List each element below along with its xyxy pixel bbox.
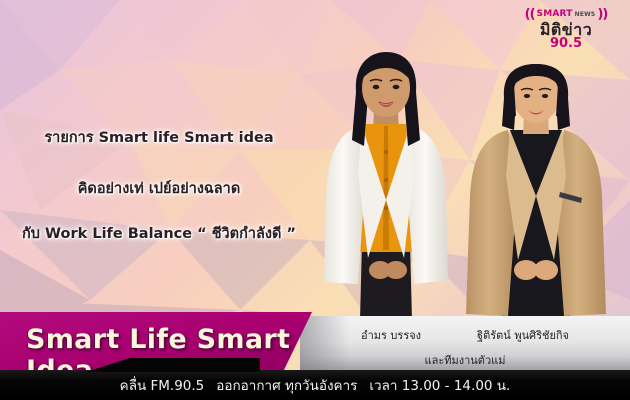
wave-left-icon: (( [525,8,535,21]
schedule-time: เวลา 13.00 - 14.00 น. [369,374,510,396]
schedule-broadcast: ออกอากาศ ทุกวันอังคาร [216,374,357,396]
schedule-text: คลื่น FM.90.5 ออกอากาศ ทุกวันอังคาร เวลา… [0,370,630,400]
promo-line-2: คิดอย่างเท่ เปย์อย่างฉลาด [0,177,318,200]
bottom-bar: Smart Life Smart Idea อำมร บรรจง ฐิติรัต… [0,302,630,400]
wave-right-icon: )) [597,8,607,21]
host-name-2: ฐิติรัตน์ พูนศิริชัยกิจ [477,326,569,344]
logo-frequency: 90.5 [514,37,618,50]
logo-smart-text: SMART [537,10,573,19]
host-names: อำมร บรรจง ฐิติรัตน์ พูนศิริชัยกิจ และที… [300,326,630,369]
presenter-one [300,52,472,320]
presenter-photos [296,52,630,320]
schedule-station: คลื่น FM.90.5 [120,374,205,396]
promo-line-3: กับ Work Life Balance “ ชีวิตกำลังดี ” [0,222,318,245]
station-logo: (( SMART NEWS )) มิติข่าว 90.5 [514,8,618,50]
host-name-1: อำมร บรรจง [361,326,421,344]
promo-line-1: รายการ Smart life Smart idea [0,126,318,149]
presenter-two [448,64,624,320]
promo-text-block: รายการ Smart life Smart idea คิดอย่างเท่… [0,126,318,245]
host-team: และทีมงานตัวแม่ [300,351,630,369]
promo-graphic: (( SMART NEWS )) มิติข่าว 90.5 รายการ Sm… [0,0,630,400]
logo-news-text: NEWS [575,12,596,18]
